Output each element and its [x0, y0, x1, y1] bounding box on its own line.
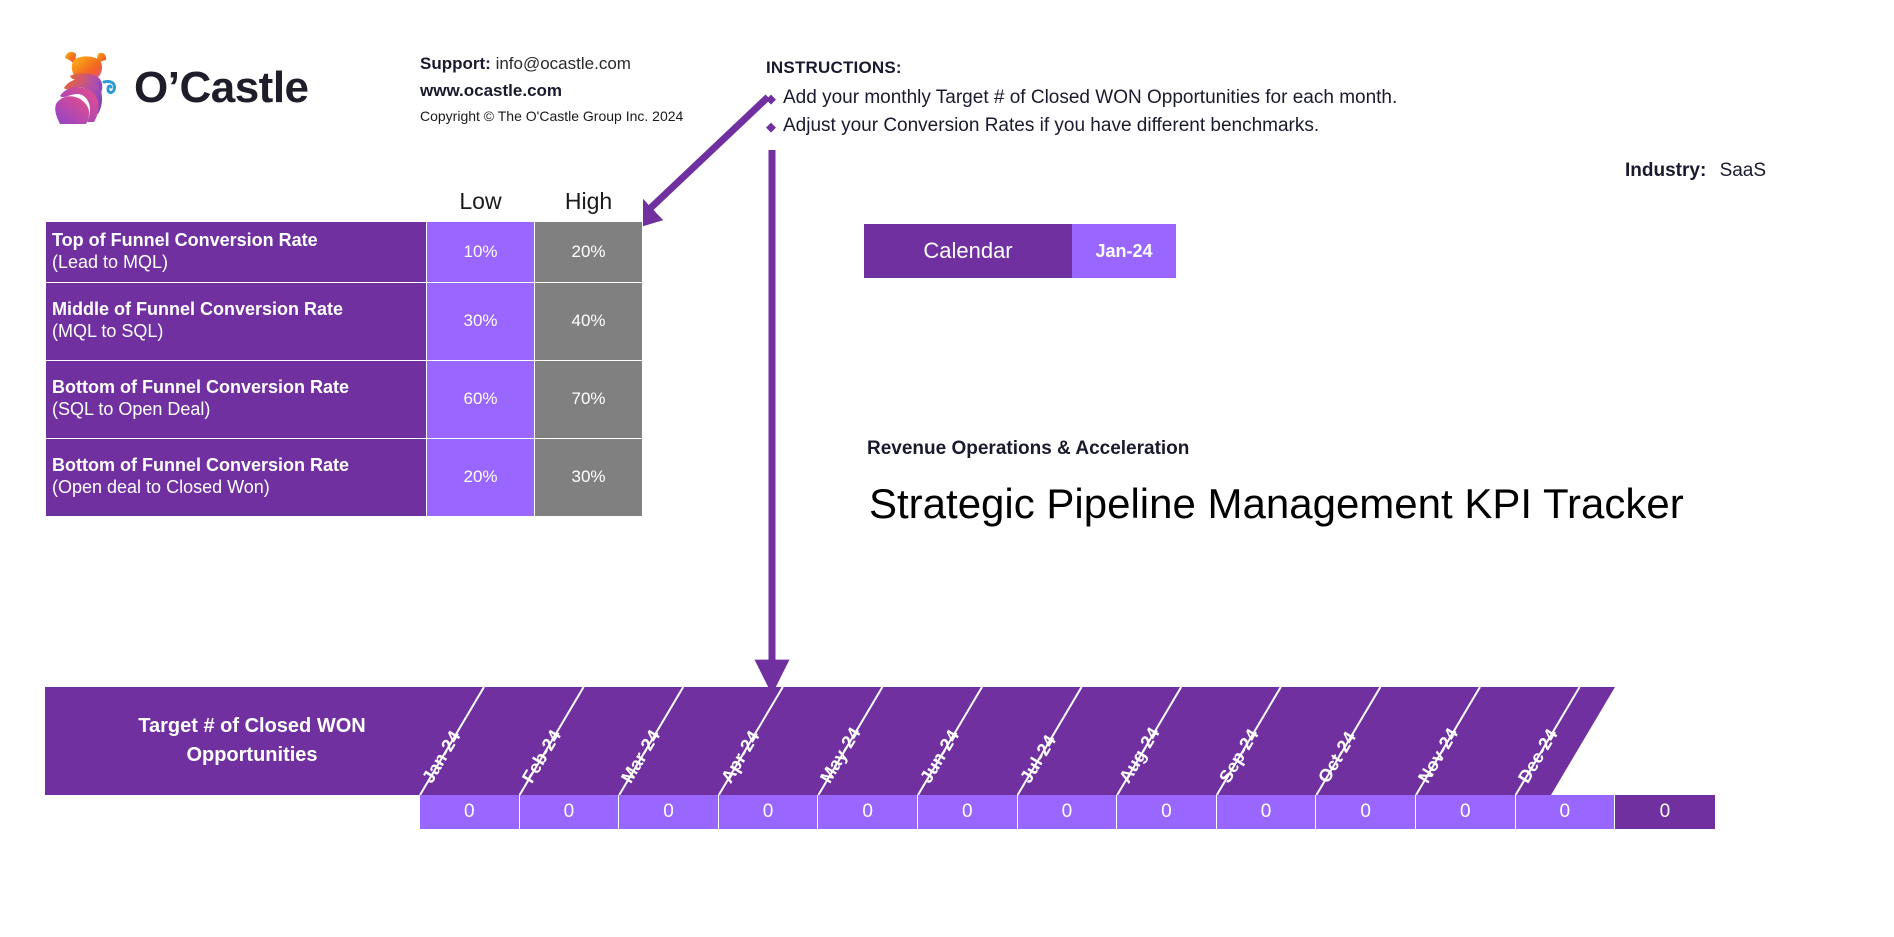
- instructions-block: INSTRUCTIONS: ◆ Add your monthly Target …: [766, 58, 1397, 139]
- row-label-main: Top of Funnel Conversion Rate: [52, 230, 426, 252]
- support-label: Support:: [420, 54, 491, 73]
- cell-high-bottom-of-funnel-sql[interactable]: 70%: [535, 360, 643, 438]
- table-row: Middle of Funnel Conversion Rate (MQL to…: [46, 282, 643, 360]
- instruction-text-1: Add your monthly Target # of Closed WON …: [783, 84, 1397, 112]
- support-info-block: Support: info@ocastle.com www.ocastle.co…: [420, 52, 683, 127]
- header-high: High: [535, 188, 643, 222]
- banner-title-line2: Opportunities: [186, 741, 317, 770]
- calendar-value[interactable]: Jan-24: [1072, 224, 1176, 278]
- banner-title-line1: Target # of Closed WON: [138, 712, 365, 741]
- cell-low-top-of-funnel[interactable]: 10%: [427, 222, 535, 283]
- target-value-row: 0000000000000: [420, 795, 1715, 829]
- copyright-text: Copyright © The O'Castle Group Inc. 2024: [420, 107, 683, 127]
- cell-high-top-of-funnel[interactable]: 20%: [535, 222, 643, 283]
- support-row: Support: info@ocastle.com: [420, 52, 683, 76]
- diamond-bullet-icon: ◆: [766, 120, 776, 133]
- brand-logo-block: O’Castle: [46, 48, 309, 128]
- conversion-rate-table: Low High Top of Funnel Conversion Rate (…: [45, 188, 643, 517]
- target-value-may-24[interactable]: 0: [818, 795, 918, 829]
- row-label-sub: (Lead to MQL): [52, 252, 426, 274]
- target-value-apr-24[interactable]: 0: [719, 795, 819, 829]
- brand-name: O’Castle: [134, 63, 309, 113]
- industry-label: Industry:: [1625, 160, 1706, 181]
- table-row: Top of Funnel Conversion Rate (Lead to M…: [46, 222, 643, 283]
- industry-value[interactable]: SaaS: [1720, 160, 1766, 181]
- instruction-item-1: ◆ Add your monthly Target # of Closed WO…: [766, 84, 1397, 112]
- table-row: Bottom of Funnel Conversion Rate (Open d…: [46, 438, 643, 516]
- target-value-sep-24[interactable]: 0: [1217, 795, 1317, 829]
- target-value-oct-24[interactable]: 0: [1316, 795, 1416, 829]
- cell-low-bottom-of-funnel-sql[interactable]: 60%: [427, 360, 535, 438]
- bull-logo-icon: [46, 48, 124, 128]
- row-label-main: Bottom of Funnel Conversion Rate: [52, 377, 426, 399]
- cell-low-middle-of-funnel[interactable]: 30%: [427, 282, 535, 360]
- support-email[interactable]: info@ocastle.com: [496, 54, 631, 73]
- cell-high-bottom-of-funnel-open[interactable]: 30%: [535, 438, 643, 516]
- row-label-top-of-funnel: Top of Funnel Conversion Rate (Lead to M…: [46, 222, 427, 283]
- target-value-nov-24[interactable]: 0: [1416, 795, 1516, 829]
- table-row: Bottom of Funnel Conversion Rate (SQL to…: [46, 360, 643, 438]
- row-label-sub: (MQL to SQL): [52, 321, 426, 343]
- target-value-jun-24[interactable]: 0: [918, 795, 1018, 829]
- instructions-title: INSTRUCTIONS:: [766, 58, 1397, 78]
- target-value-feb-24[interactable]: 0: [520, 795, 620, 829]
- row-label-bottom-of-funnel-open: Bottom of Funnel Conversion Rate (Open d…: [46, 438, 427, 516]
- target-value-mar-24[interactable]: 0: [619, 795, 719, 829]
- target-value-jan-24[interactable]: 0: [420, 795, 520, 829]
- website-link[interactable]: www.ocastle.com: [420, 79, 683, 103]
- row-label-sub: (SQL to Open Deal): [52, 399, 426, 421]
- page-title: Strategic Pipeline Management KPI Tracke…: [869, 480, 1684, 528]
- cell-high-middle-of-funnel[interactable]: 40%: [535, 282, 643, 360]
- row-label-sub: (Open deal to Closed Won): [52, 477, 426, 499]
- page-subtitle: Revenue Operations & Acceleration: [867, 438, 1189, 460]
- month-label-yearly: YEARLY: [1613, 715, 1668, 787]
- row-label-main: Middle of Funnel Conversion Rate: [52, 299, 426, 321]
- table-header-row: Low High: [46, 188, 643, 222]
- banner-title: Target # of Closed WON Opportunities: [67, 687, 437, 795]
- cell-low-bottom-of-funnel-open[interactable]: 20%: [427, 438, 535, 516]
- row-label-bottom-of-funnel-sql: Bottom of Funnel Conversion Rate (SQL to…: [46, 360, 427, 438]
- instruction-item-2: ◆ Adjust your Conversion Rates if you ha…: [766, 112, 1397, 140]
- header-spacer: [46, 188, 427, 222]
- industry-block: Industry: SaaS: [1625, 160, 1766, 182]
- instruction-text-2: Adjust your Conversion Rates if you have…: [783, 112, 1319, 140]
- target-value-yearly[interactable]: 0: [1615, 795, 1715, 829]
- header-low: Low: [427, 188, 535, 222]
- target-value-jul-24[interactable]: 0: [1018, 795, 1118, 829]
- calendar-label: Calendar: [864, 224, 1072, 278]
- diamond-bullet-icon: ◆: [766, 92, 776, 105]
- row-label-main: Bottom of Funnel Conversion Rate: [52, 455, 426, 477]
- target-banner: Target # of Closed WON Opportunities Jan…: [45, 687, 1615, 795]
- target-value-dec-24[interactable]: 0: [1516, 795, 1616, 829]
- calendar-selector[interactable]: Calendar Jan-24: [864, 224, 1176, 278]
- row-label-middle-of-funnel: Middle of Funnel Conversion Rate (MQL to…: [46, 282, 427, 360]
- target-value-aug-24[interactable]: 0: [1117, 795, 1217, 829]
